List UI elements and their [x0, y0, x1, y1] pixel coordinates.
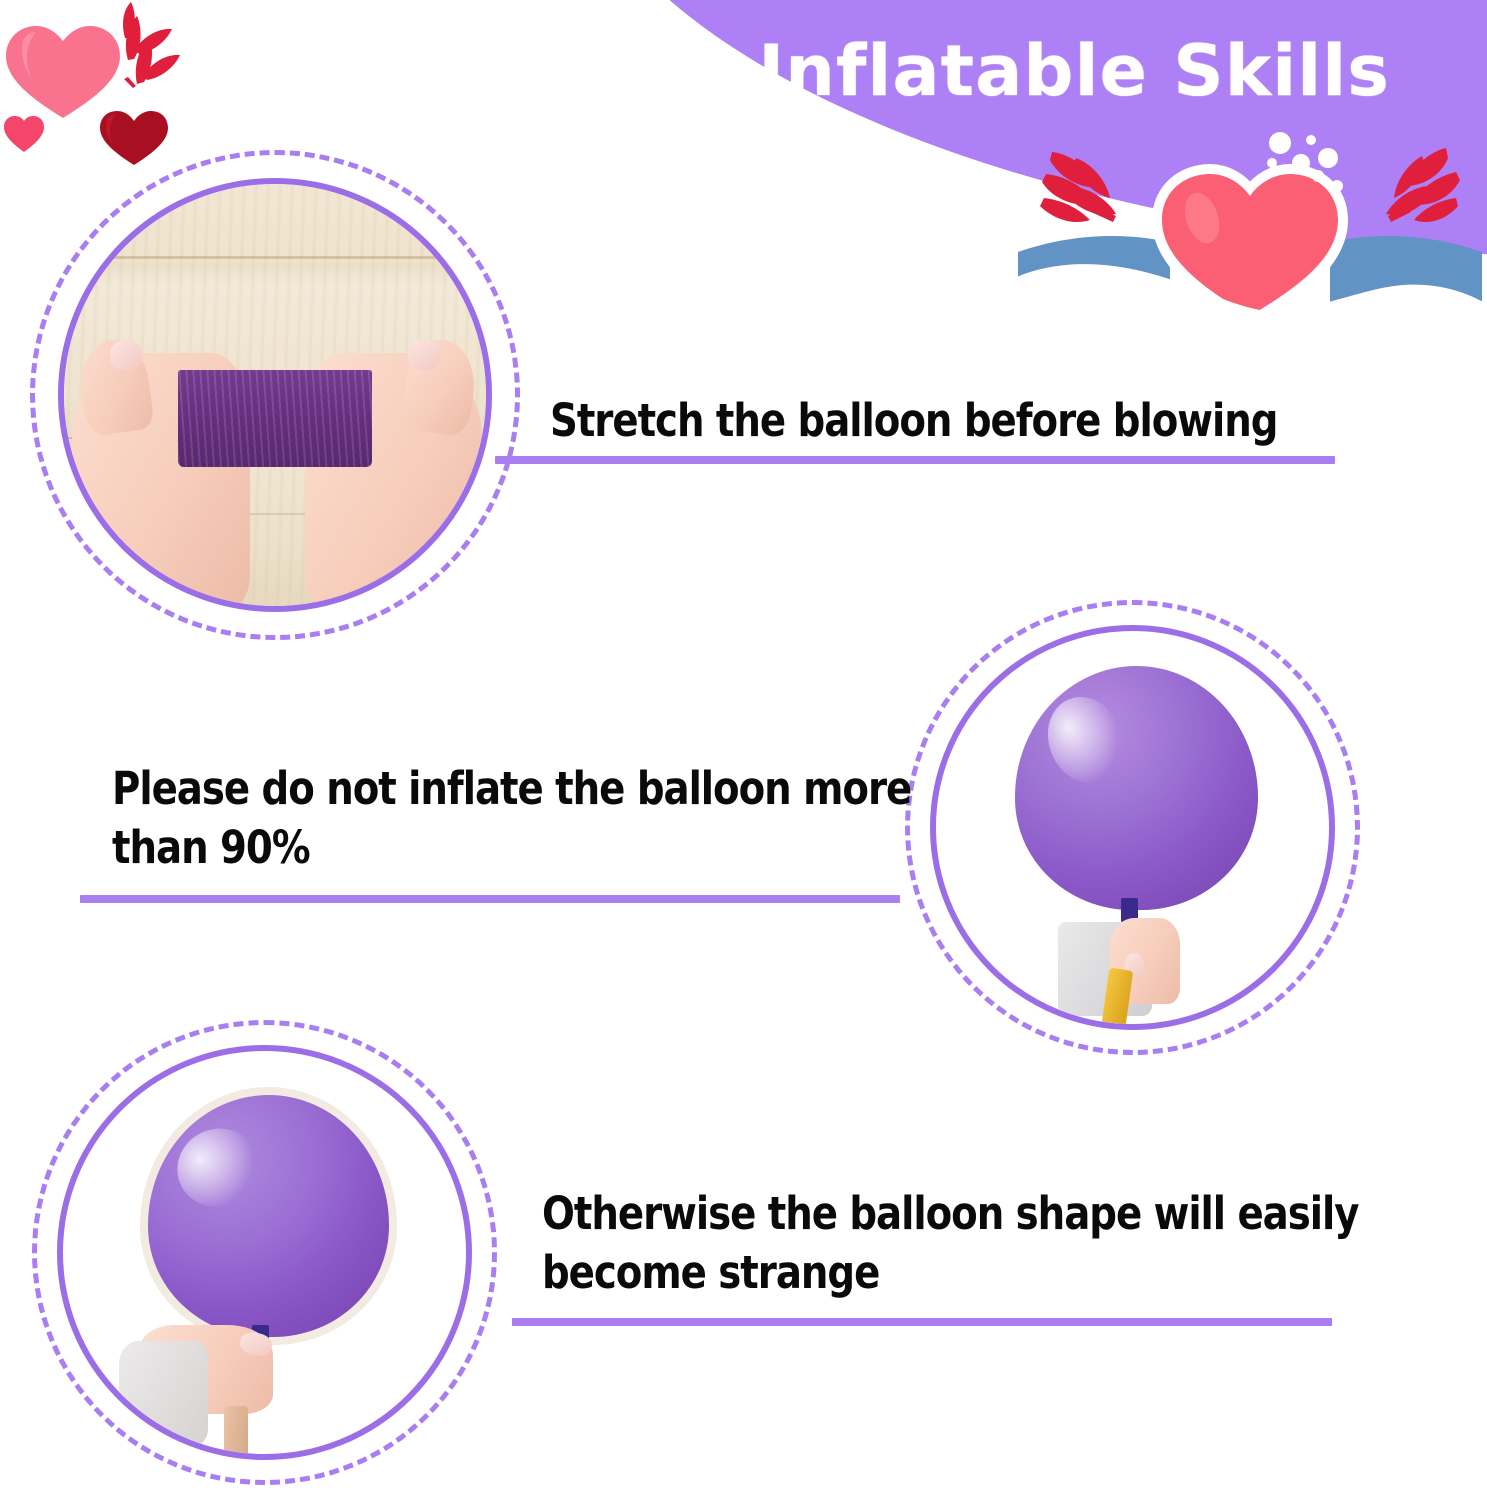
step-1-underline: [495, 456, 1335, 464]
step-1-caption: Stretch the balloon before blowing: [550, 392, 1393, 451]
small-pink-heart-icon: [4, 116, 44, 152]
step-3-caption: Otherwise the balloon shape will easily …: [542, 1185, 1385, 1302]
overinflated-balloon: [148, 1095, 390, 1337]
left-thumbnail: [109, 339, 144, 372]
balloon-pump: [224, 1406, 248, 1454]
step-2-underline: [80, 895, 900, 903]
emblem-right-leaf-icon: [1386, 148, 1460, 222]
step-3-underline: [512, 1318, 1332, 1326]
sparkle-dots-icon: [1250, 128, 1380, 213]
photo-stretch-balloon: [58, 178, 492, 612]
inflated-balloon: [1015, 666, 1259, 910]
large-pink-heart-icon: [6, 26, 120, 118]
page-title: Inflatable Skills: [668, 36, 1480, 106]
heart-ribbon-emblem-icon: [1010, 130, 1487, 340]
right-thumbnail: [406, 339, 441, 372]
emblem-left-leaf-icon: [1040, 152, 1116, 222]
red-leaf-branch-icon: [123, 2, 180, 88]
photo-inflated-balloon: [930, 625, 1335, 1030]
hearts-and-leaf-cluster-icon: [0, 0, 205, 175]
photo-overinflated-balloon: [57, 1045, 472, 1460]
stretched-balloon-band: [178, 370, 372, 467]
sleeve: [119, 1341, 208, 1446]
step-2-caption: Please do not inflate the balloon more t…: [112, 760, 929, 877]
